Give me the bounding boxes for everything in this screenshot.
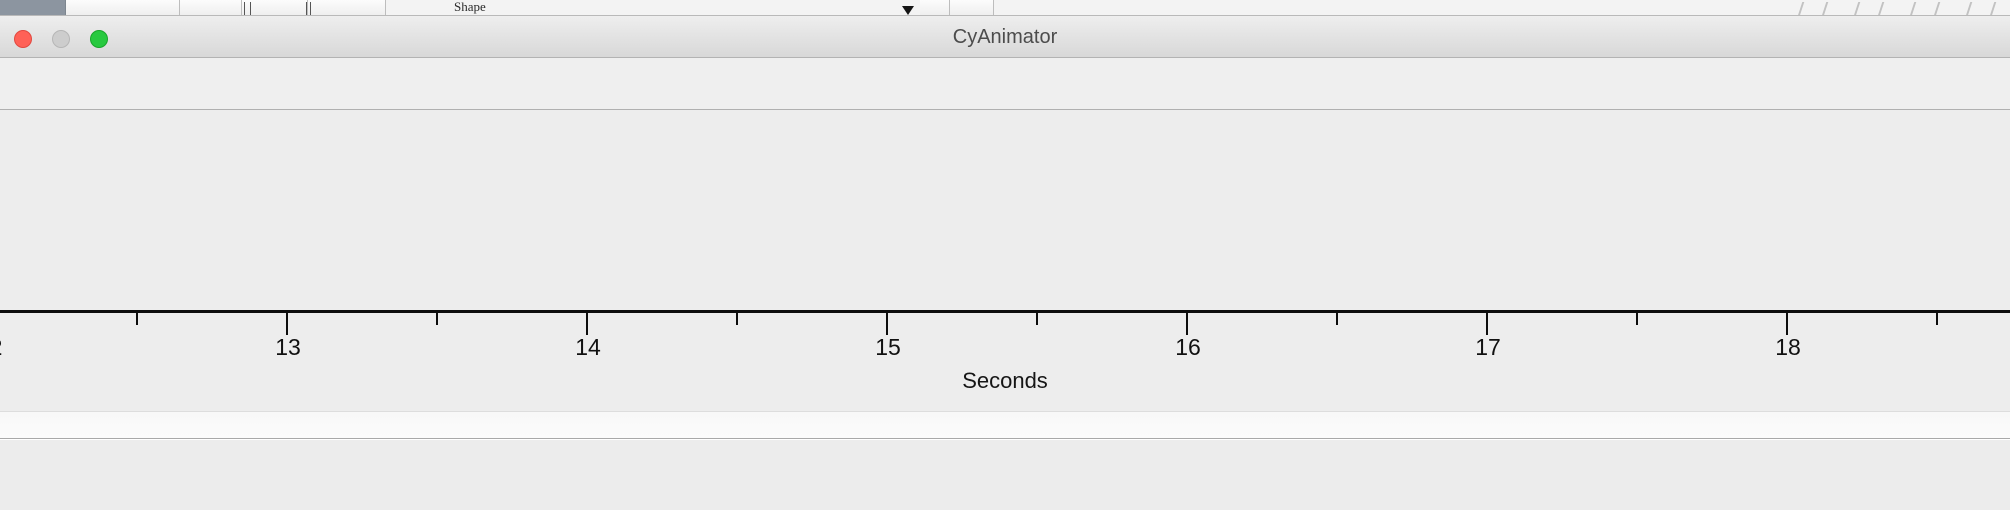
background-tick-1 xyxy=(244,2,245,16)
background-tick-4 xyxy=(310,2,311,16)
background-vee-2 xyxy=(1854,2,1885,16)
background-arrow-icon xyxy=(902,6,914,15)
background-window-label: Shape xyxy=(454,0,486,15)
ruler-tick-major xyxy=(286,313,288,335)
background-tab-2 xyxy=(66,0,180,16)
background-vee-4 xyxy=(1966,2,1997,16)
ruler-label: 16 xyxy=(1175,334,1201,361)
background-tick-3 xyxy=(306,2,307,16)
ruler-tick-minor xyxy=(1336,313,1338,325)
playback-controls: Animation Speed: xyxy=(0,440,2010,510)
ruler-tick-major xyxy=(1186,313,1188,335)
background-tick-2 xyxy=(250,2,251,16)
background-tab-6 xyxy=(920,0,950,16)
ruler-tick-minor xyxy=(1636,313,1638,325)
titlebar: CyAnimator xyxy=(0,16,2010,58)
time-ruler[interactable]: 2 13 14 15 16 17 18 Seconds xyxy=(0,310,2010,411)
timeline-scrollbar-track[interactable] xyxy=(0,411,2010,439)
cyanimator-window: Shape CyAnimator Clear A xyxy=(0,0,2010,510)
ruler-label: 15 xyxy=(875,334,901,361)
background-vee-3 xyxy=(1910,2,1941,16)
ruler-tick-minor xyxy=(436,313,438,325)
ruler-tick-minor xyxy=(1936,313,1938,325)
background-tab-5 xyxy=(308,0,386,16)
ruler-label: 13 xyxy=(275,334,301,361)
ruler-tick-major xyxy=(886,313,888,335)
ruler-label: 2 xyxy=(0,334,2,361)
background-window-strip: Shape xyxy=(0,0,2010,16)
background-vee-1 xyxy=(1798,2,1829,16)
background-tab-1 xyxy=(0,0,66,16)
ruler-axis-title: Seconds xyxy=(0,368,2010,394)
ruler-tick-minor xyxy=(1036,313,1038,325)
background-tab-7 xyxy=(950,0,994,16)
ruler-tick-major xyxy=(1786,313,1788,335)
ruler-label: 18 xyxy=(1775,334,1801,361)
window-title: CyAnimator xyxy=(0,16,2010,58)
ruler-tick-minor xyxy=(736,313,738,325)
background-tab-3 xyxy=(180,0,242,16)
ruler-baseline xyxy=(0,310,2010,313)
ruler-label: 14 xyxy=(575,334,601,361)
ruler-label: 17 xyxy=(1475,334,1501,361)
ruler-tick-major xyxy=(586,313,588,335)
ruler-tick-minor xyxy=(136,313,138,325)
background-tab-4 xyxy=(242,0,308,16)
ruler-tick-major xyxy=(1486,313,1488,335)
toolbar: Clear All Frames xyxy=(0,58,2010,110)
